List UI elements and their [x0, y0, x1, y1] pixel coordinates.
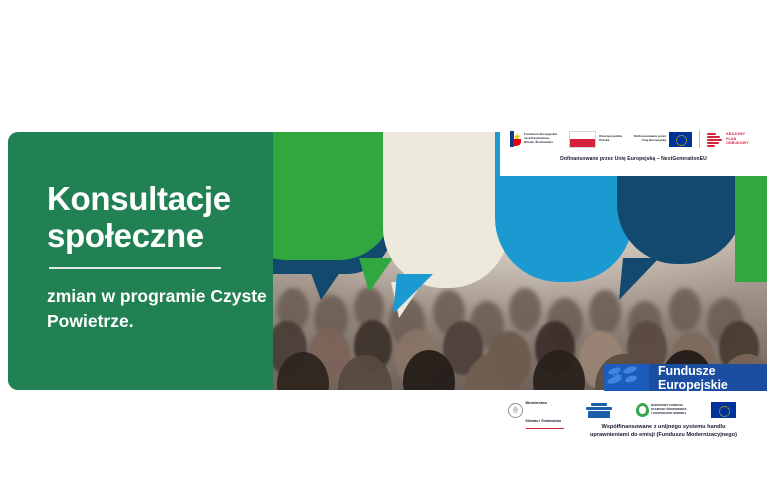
logo-row: Fundusze Europejskie na Infrastrukturę, … — [510, 126, 762, 152]
ministry-underline — [526, 428, 564, 429]
logo-dofinansowane-ue: Dofinansowane przez Unię Europejską — [634, 132, 692, 147]
logo-rp-label: Rzeczpospolita Polska — [599, 135, 622, 143]
separator — [699, 130, 700, 148]
bottom-logo-row: Ministerstwo Klimatu i Środowiska NARODO… — [508, 397, 767, 423]
page-subtitle: zmian w programie Czyste Powietrze. — [47, 284, 272, 334]
logo-ministerstwo-klimatu: Ministerstwo Klimatu i Środowiska — [508, 391, 564, 429]
logo-fe-label: Fundusze Europejskie na Infrastrukturę, … — [524, 133, 557, 145]
divider — [49, 267, 221, 269]
fundusze-europejskie-icon — [510, 131, 521, 147]
fundusze-europejskie-stars-icon — [604, 364, 649, 391]
eu-flag-icon — [669, 132, 692, 147]
logo-fundusze-europejskie: Fundusze Europejskie na Infrastrukturę, … — [510, 131, 557, 147]
green-leaf-icon — [636, 403, 649, 417]
nfosigw-building-icon — [586, 403, 612, 418]
krajowy-plan-odbudowy-icon — [707, 132, 723, 147]
logo-narodowy-fundusz: NARODOWY FUNDUSZ OCHRONY ŚRODOWISKA I GO… — [636, 403, 687, 417]
logo-kpo-label: KRAJOWY PLAN ODBUDOWY — [726, 132, 749, 146]
logo-ue-label: Dofinansowane przez Unię Europejską — [634, 135, 666, 143]
headline-panel: Konsultacje społeczne zmian w programie … — [8, 132, 273, 390]
eu-funding-logo-strip: Fundusze Europejskie na Infrastrukturę, … — [500, 120, 767, 176]
nfosigw-label: NARODOWY FUNDUSZ OCHRONY ŚRODOWISKA I GO… — [651, 404, 687, 415]
co-financing-caption: Współfinansowane z unijnego systemu hand… — [560, 424, 767, 439]
logo-krajowy-plan-odbudowy: KRAJOWY PLAN ODBUDOWY — [707, 132, 749, 147]
page-title: Konsultacje społeczne — [47, 180, 262, 254]
funding-caption: Dofinansowane przez Unię Europejską – Ne… — [500, 156, 767, 162]
eu-flag-icon-bottom — [711, 402, 736, 418]
poland-flag-icon — [569, 131, 596, 148]
ministry-label: Ministerstwo Klimatu i Środowiska — [526, 401, 561, 423]
polish-eagle-icon — [508, 403, 523, 418]
ministry-label-block: Ministerstwo Klimatu i Środowiska — [526, 391, 564, 429]
fundusze-europejskie-bar: Fundusze Europejskie — [604, 364, 767, 391]
fundusze-europejskie-label: Fundusze Europejskie — [649, 364, 767, 392]
logo-rzeczpospolita-polska: Rzeczpospolita Polska — [569, 131, 622, 148]
